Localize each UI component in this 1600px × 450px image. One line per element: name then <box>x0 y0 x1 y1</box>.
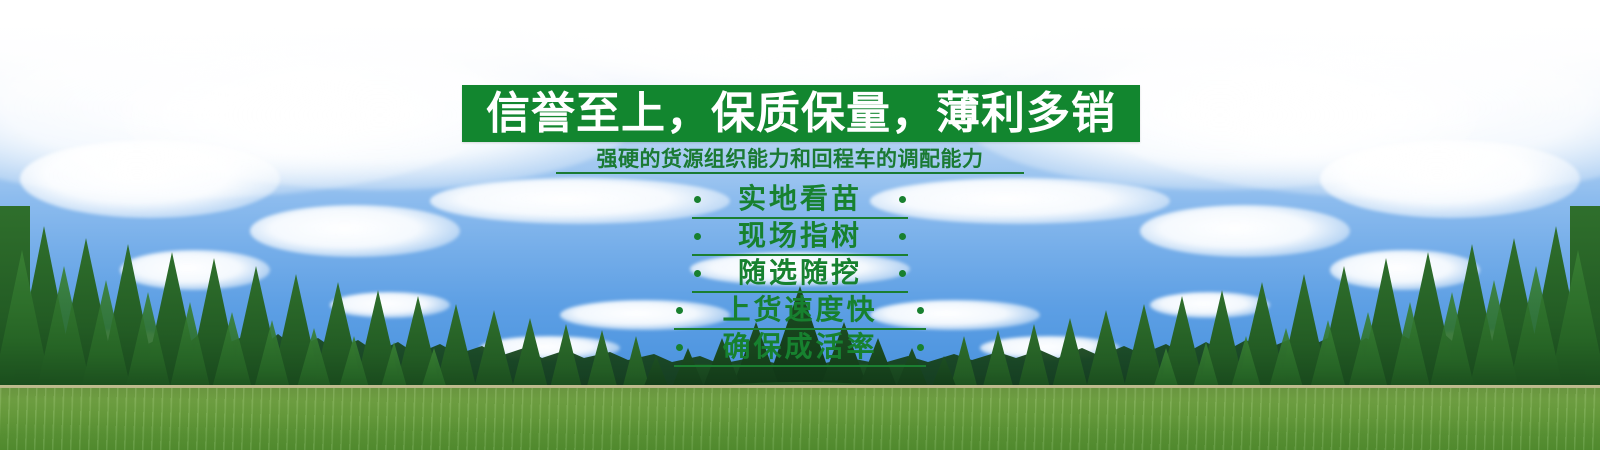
bullet-dot-right-icon <box>899 270 906 277</box>
feature-item: 确保成活率 <box>0 330 1600 367</box>
bullet-dot-right-icon <box>899 196 906 203</box>
bullet-dot-left-icon <box>694 270 701 277</box>
feature-item: 现场指树 <box>0 219 1600 256</box>
banner-content: 信誉至上，保质保量，薄利多销 强硬的货源组织能力和回程车的调配能力 实地看苗 现… <box>0 0 1600 450</box>
feature-label: 随选随挖 <box>708 256 892 290</box>
promo-banner: 信誉至上，保质保量，薄利多销 强硬的货源组织能力和回程车的调配能力 实地看苗 现… <box>0 0 1600 450</box>
bullet-dot-left-icon <box>676 344 683 351</box>
bullet-dot-right-icon <box>917 307 924 314</box>
feature-label: 上货速度快 <box>692 293 907 327</box>
feature-item: 随选随挖 <box>0 256 1600 293</box>
feature-item-inner: 现场指树 <box>692 219 908 256</box>
feature-list: 实地看苗 现场指树 随选随挖 <box>0 182 1600 367</box>
subtitle-text: 强硬的货源组织能力和回程车的调配能力 <box>556 148 1024 174</box>
bullet-dot-right-icon <box>917 344 924 351</box>
bullet-dot-left-icon <box>694 233 701 240</box>
feature-label: 现场指树 <box>708 219 892 253</box>
bullet-dot-left-icon <box>694 196 701 203</box>
feature-label: 实地看苗 <box>708 182 892 216</box>
feature-underline <box>674 365 926 367</box>
bullet-dot-left-icon <box>676 307 683 314</box>
feature-label: 确保成活率 <box>692 330 907 364</box>
headline-bar: 信誉至上，保质保量，薄利多销 <box>462 85 1140 142</box>
feature-item-inner: 随选随挖 <box>692 256 908 293</box>
feature-item-inner: 实地看苗 <box>692 182 908 219</box>
bullet-dot-right-icon <box>899 233 906 240</box>
feature-item-inner: 上货速度快 <box>674 293 926 330</box>
feature-item: 实地看苗 <box>0 182 1600 219</box>
feature-item-inner: 确保成活率 <box>674 330 926 367</box>
feature-item: 上货速度快 <box>0 293 1600 330</box>
headline-text: 信誉至上，保质保量，薄利多销 <box>462 85 1140 142</box>
